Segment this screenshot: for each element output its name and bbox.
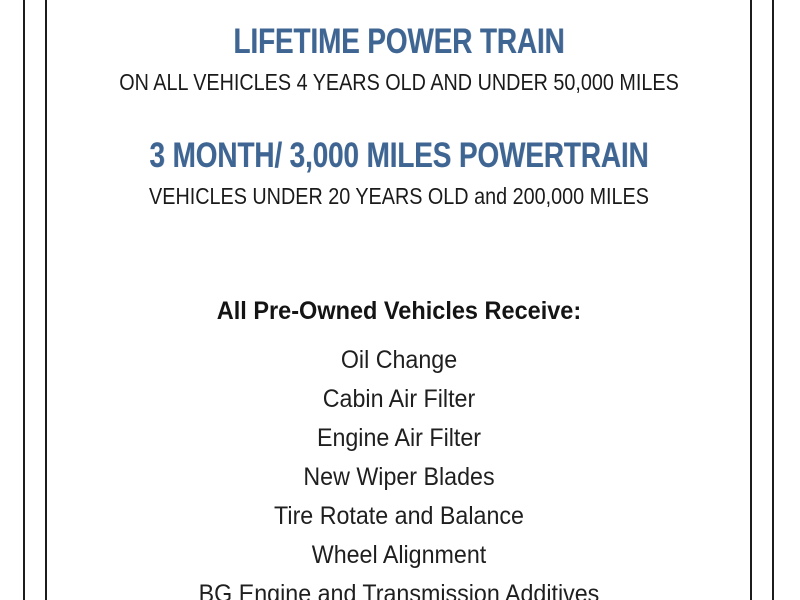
services-list: Oil Change Cabin Air Filter Engine Air F… [48,341,750,600]
right-inner-rule [750,0,752,600]
flyer-page: LIFETIME POWER TRAIN ON ALL VEHICLES 4 Y… [0,0,800,600]
services-section-title: All Pre-Owned Vehicles Receive: [69,299,729,324]
left-outer-rule [23,0,25,600]
lifetime-powertrain-headline: LIFETIME POWER TRAIN [118,24,680,59]
service-list-item: BG Engine and Transmission Additives [73,575,726,600]
service-list-item: Oil Change [73,341,726,380]
left-inner-rule [45,0,47,600]
services-section: All Pre-Owned Vehicles Receive: Oil Chan… [48,299,750,600]
service-list-item: New Wiper Blades [73,458,726,497]
service-list-item: Engine Air Filter [73,419,726,458]
right-outer-rule [772,0,774,600]
lifetime-powertrain-subhead: ON ALL VEHICLES 4 YEARS OLD AND UNDER 50… [97,71,701,94]
warranty-block-lifetime: LIFETIME POWER TRAIN ON ALL VEHICLES 4 Y… [48,24,750,94]
service-list-item: Wheel Alignment [73,536,726,575]
content-column: LIFETIME POWER TRAIN ON ALL VEHICLES 4 Y… [48,0,750,600]
service-list-item: Cabin Air Filter [73,380,726,419]
service-list-item: Tire Rotate and Balance [73,497,726,536]
warranty-block-three-month: 3 MONTH/ 3,000 MILES POWERTRAIN VEHICLES… [48,138,750,208]
three-month-powertrain-headline: 3 MONTH/ 3,000 MILES POWERTRAIN [118,138,680,173]
three-month-powertrain-subhead: VEHICLES UNDER 20 YEARS OLD and 200,000 … [97,185,701,208]
